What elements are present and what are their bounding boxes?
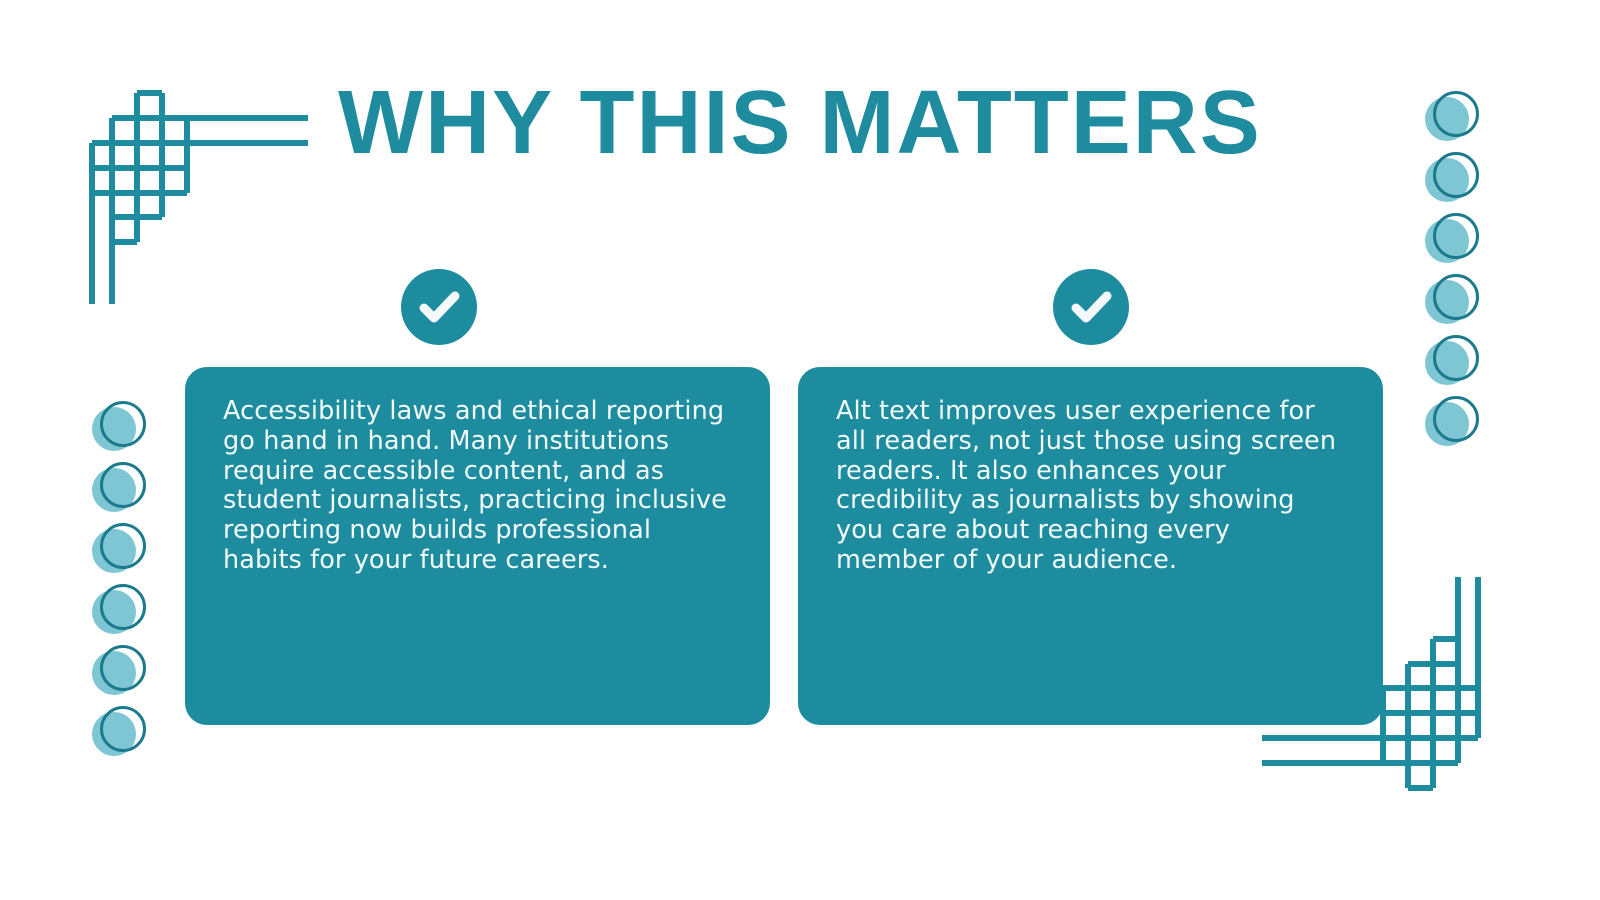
- decor-ring: [1433, 396, 1479, 442]
- decor-ring: [100, 645, 146, 691]
- decor-ring: [1433, 274, 1479, 320]
- decor-ring: [100, 523, 146, 569]
- check-circle-icon-left: [401, 269, 477, 345]
- decor-ring: [1433, 213, 1479, 259]
- decor-circle: [1425, 396, 1477, 448]
- decor-circle: [1425, 152, 1477, 204]
- decor-ring: [100, 584, 146, 630]
- decor-ring: [100, 706, 146, 752]
- decor-ring: [1433, 152, 1479, 198]
- decor-circle: [92, 706, 144, 758]
- decor-circle: [92, 462, 144, 514]
- info-card-right-text: Alt text improves user experience for al…: [836, 397, 1343, 576]
- decor-circle: [92, 584, 144, 636]
- decor-circle: [1425, 91, 1477, 143]
- corner-ornament-top-left-icon: [82, 82, 312, 311]
- decor-circle: [1425, 274, 1477, 326]
- decor-circle: [92, 523, 144, 575]
- decor-circle: [92, 401, 144, 453]
- decor-circle: [1425, 335, 1477, 387]
- slide-canvas: WHY THIS MATTERS: [0, 0, 1600, 900]
- decor-ring: [1433, 91, 1479, 137]
- decor-circle: [92, 645, 144, 697]
- check-circle-icon-right: [1053, 269, 1129, 345]
- decor-ring: [100, 401, 146, 447]
- info-card-left-text: Accessibility laws and ethical reporting…: [223, 397, 730, 576]
- decor-ring: [100, 462, 146, 508]
- decor-circle: [1425, 213, 1477, 265]
- info-card-right: Alt text improves user experience for al…: [798, 367, 1383, 725]
- decor-ring: [1433, 335, 1479, 381]
- info-card-left: Accessibility laws and ethical reporting…: [185, 367, 770, 725]
